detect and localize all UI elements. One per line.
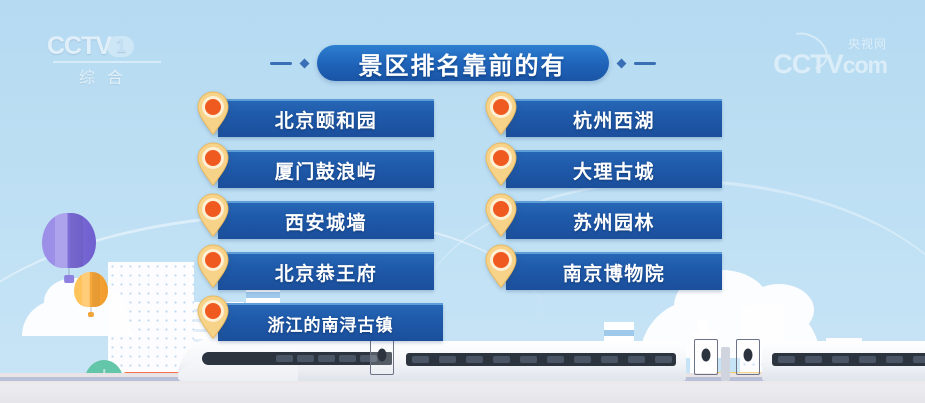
train-car-2-windows bbox=[772, 353, 925, 366]
list-item-bar: 北京颐和园 bbox=[218, 99, 434, 137]
train-car-1 bbox=[396, 341, 686, 381]
infographic-stage: CCTV1 综合 央视网 CCTVcom 景区排名靠前的有 bbox=[0, 0, 925, 403]
train-coupler bbox=[721, 347, 730, 381]
page-title: 景区排名靠前的有 bbox=[359, 46, 567, 81]
map-pin-icon bbox=[196, 142, 230, 186]
list-item-label: 杭州西湖 bbox=[573, 106, 655, 133]
list-item-bar: 西安城墙 bbox=[218, 201, 434, 239]
title-dash-right-icon bbox=[634, 62, 656, 65]
train-door-1 bbox=[370, 339, 394, 375]
list-item-label: 北京恭王府 bbox=[275, 259, 378, 286]
list-item-bar: 南京博物院 bbox=[506, 252, 722, 290]
train-door-2 bbox=[694, 339, 718, 375]
list-item-label: 苏州园林 bbox=[573, 208, 655, 235]
map-pin-icon bbox=[196, 295, 230, 339]
train-car-2 bbox=[762, 341, 925, 381]
list-item-bar: 大理古城 bbox=[506, 150, 722, 188]
list-item-bar: 杭州西湖 bbox=[506, 99, 722, 137]
page-title-pill: 景区排名靠前的有 bbox=[317, 45, 609, 81]
map-pin-icon bbox=[196, 193, 230, 237]
map-pin-icon bbox=[196, 91, 230, 135]
list-item-label: 北京颐和园 bbox=[275, 106, 378, 133]
title-dash-left-icon bbox=[270, 62, 292, 65]
map-pin-icon bbox=[196, 244, 230, 288]
map-pin-icon bbox=[484, 142, 518, 186]
page-title-banner: 景区排名靠前的有 bbox=[0, 44, 925, 82]
title-diamond-left-icon bbox=[299, 58, 309, 68]
title-diamond-right-icon bbox=[616, 58, 626, 68]
map-pin-icon bbox=[484, 244, 518, 288]
list-item-label: 南京博物院 bbox=[563, 259, 666, 286]
list-item-bar: 苏州园林 bbox=[506, 201, 722, 239]
list-item-bar: 厦门鼓浪屿 bbox=[218, 150, 434, 188]
map-pin-icon bbox=[484, 91, 518, 135]
list-item-bar: 北京恭王府 bbox=[218, 252, 434, 290]
list-item-bar: 浙江的南浔古镇 bbox=[218, 303, 443, 341]
train-car-1-windows bbox=[406, 353, 676, 366]
map-pin-icon bbox=[484, 193, 518, 237]
train-window-strip bbox=[202, 352, 392, 365]
list-item-label: 大理古城 bbox=[573, 157, 655, 184]
list-item-label: 厦门鼓浪屿 bbox=[275, 157, 378, 184]
list-item-label: 浙江的南浔古镇 bbox=[268, 311, 394, 336]
orange-hot-air-balloon bbox=[74, 272, 108, 322]
train-door-3 bbox=[736, 339, 760, 375]
list-item-label: 西安城墙 bbox=[285, 208, 367, 235]
